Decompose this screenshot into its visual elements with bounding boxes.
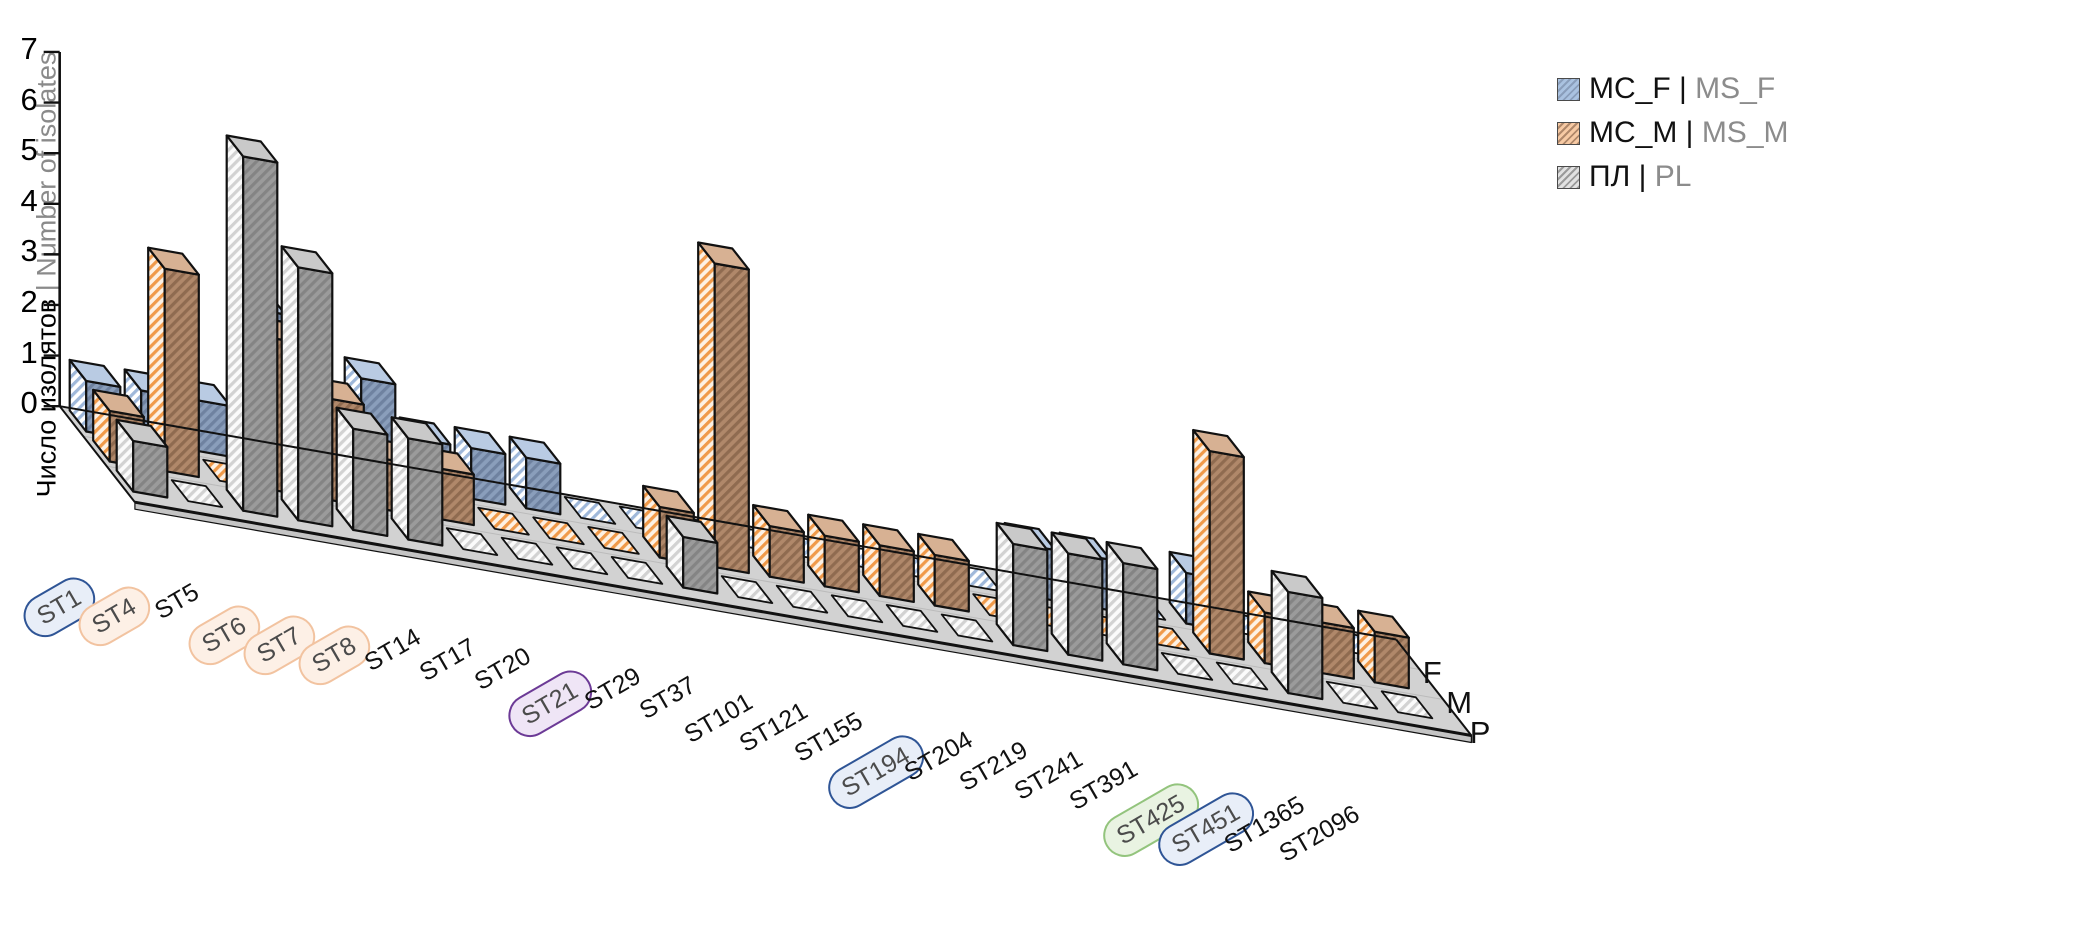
y-tick-label: 7: [0, 31, 38, 67]
bar[interactable]: [997, 523, 1048, 651]
y-tick-label: 2: [0, 284, 38, 320]
bar[interactable]: [1193, 430, 1244, 659]
z-tick-label-m: M: [1446, 685, 1472, 721]
bar[interactable]: [337, 408, 388, 536]
bar-face-front: [1123, 563, 1157, 670]
y-tick-label: 0: [0, 385, 38, 421]
y-tick-label: 5: [0, 132, 38, 168]
bar[interactable]: [282, 246, 333, 526]
bar-face-front: [353, 429, 387, 536]
y-tick-label: 6: [0, 82, 38, 118]
y-tick-label: 1: [0, 335, 38, 371]
bar[interactable]: [1052, 533, 1103, 661]
bar-face-left: [227, 136, 244, 511]
bar[interactable]: [392, 417, 443, 545]
bar[interactable]: [698, 243, 749, 574]
bar-face-front: [1288, 592, 1322, 699]
bar-face-left: [282, 246, 299, 520]
bar[interactable]: [227, 136, 278, 517]
bar-face-front: [408, 438, 442, 545]
bar-face-front: [165, 269, 199, 477]
bar[interactable]: [1272, 571, 1323, 699]
bar-face-front: [196, 400, 230, 457]
bar-face-front: [133, 441, 167, 498]
chart-canvas: Число изолятов | Number of isolates MC_F…: [0, 0, 2091, 952]
bar-face-front: [1210, 451, 1244, 659]
z-tick-label-f: F: [1423, 655, 1442, 691]
bar-face-front: [683, 537, 717, 594]
y-tick-label: 4: [0, 183, 38, 219]
bar-chart-3d: [0, 0, 2091, 952]
bar-face-front: [471, 448, 505, 505]
bar-face-front: [715, 264, 749, 574]
bar-face-front: [243, 157, 277, 517]
z-tick-label-p: P: [1470, 715, 1491, 751]
bar-face-front: [1068, 554, 1102, 661]
bar-face-front: [526, 458, 560, 515]
bar-face-front: [1013, 544, 1047, 651]
bar-face-front: [1375, 632, 1409, 689]
bar-face-front: [298, 267, 332, 526]
bar-face-left: [1193, 430, 1210, 653]
y-tick-label: 3: [0, 233, 38, 269]
bar[interactable]: [1107, 542, 1158, 670]
